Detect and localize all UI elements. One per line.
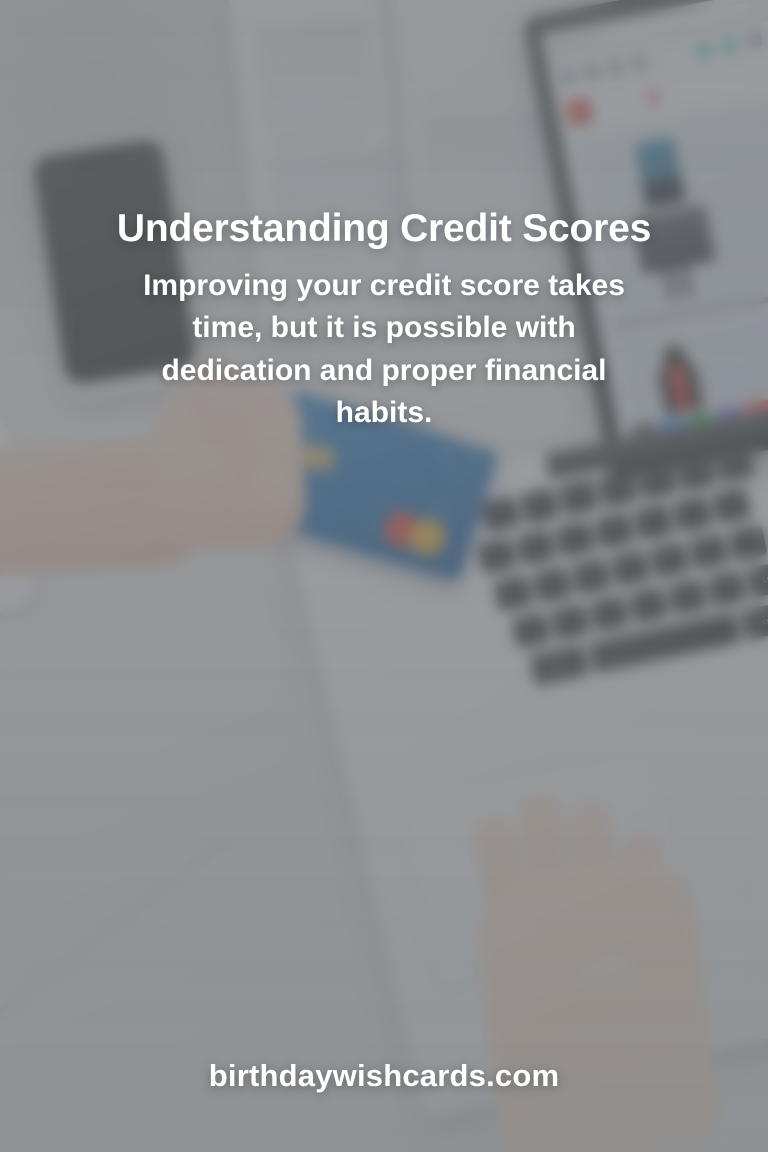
text-block: Understanding Credit Scores Improving yo… [0, 0, 768, 435]
social-card: escF1F2 F3F4F5F6 QWE RTYU ASD FGHJ ZXC V… [0, 0, 768, 1152]
subtitle-text: Improving your credit score takes time, … [114, 265, 654, 435]
page-title: Understanding Credit Scores [42, 207, 726, 251]
website-url: birthdaywishcards.com [0, 1058, 768, 1094]
